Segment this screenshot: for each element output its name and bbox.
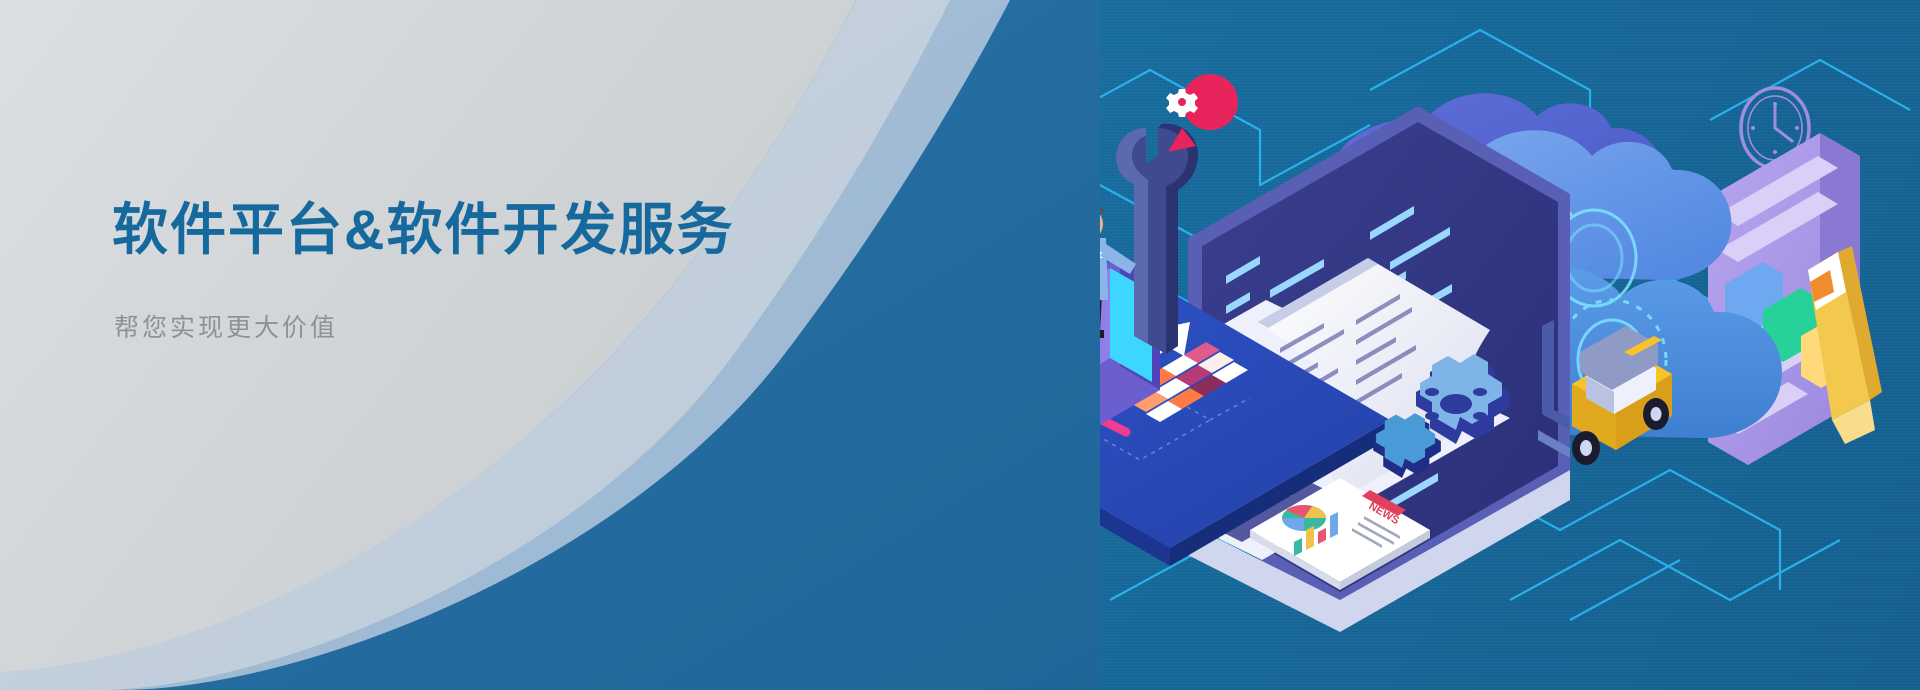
page-title: 软件平台&软件开发服务 <box>112 196 832 264</box>
page-subtitle: 帮您实现更大价值 <box>114 308 832 344</box>
hero-banner: NEWS <box>0 0 1920 690</box>
pie-chart-icon <box>1282 505 1326 531</box>
background-swoosh <box>0 0 1100 690</box>
banner-copy: 软件平台&软件开发服务 帮您实现更大价值 <box>112 196 832 344</box>
